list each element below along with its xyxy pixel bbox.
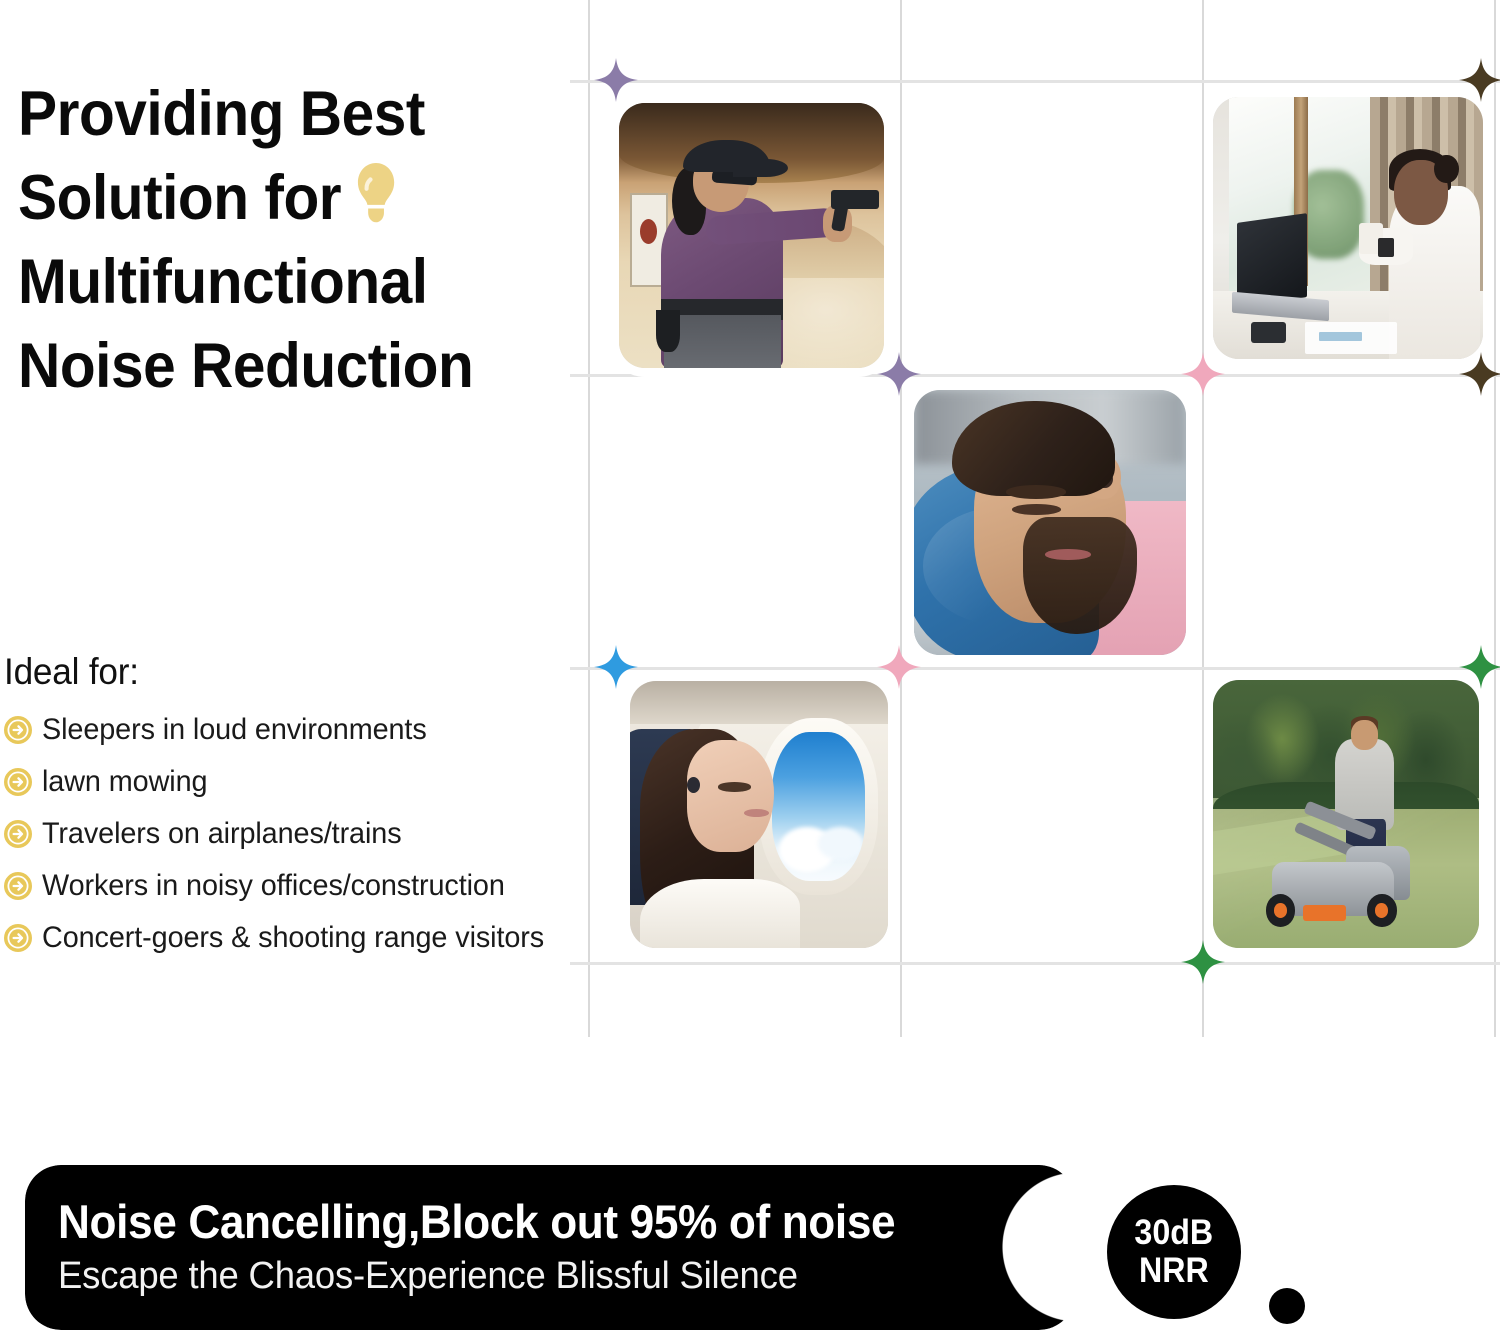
ideal-for-list: Sleepers in loud environments lawn mowin… [4,704,614,964]
ideal-for-item: Travelers on airplanes/trains [4,808,614,860]
ideal-for-item: Concert-goers & shooting range visitors [4,912,614,964]
sparkle-pink-mid-center [1181,352,1225,396]
ideal-for-item: lawn mowing [4,756,614,808]
sparkle-purple-mid-left [877,352,921,396]
ideal-for-item-label: Sleepers in loud environments [42,713,427,747]
photo-shooting-range [619,103,884,368]
nrr-badge: 30dB NRR [1107,1185,1241,1319]
nrr-badge-label: NRR [1139,1253,1209,1289]
grid-line-horizontal [570,962,1500,965]
photo-sleeping-man [914,390,1186,655]
grid-line-horizontal [570,667,1500,670]
ideal-for-item: Workers in noisy offices/construction [4,860,614,912]
grid-line-horizontal [570,80,1500,83]
lightbulb-icon [352,161,400,225]
photo-office-laptop [1213,97,1483,359]
ideal-for-item-label: lawn mowing [42,765,207,799]
headline-line-3: Multifunctional [18,247,428,317]
sparkle-purple-top-left [594,58,638,102]
circle-arrow-right-icon [4,820,32,848]
decorative-dot [1269,1288,1305,1324]
grid-line-horizontal [570,374,1500,377]
sparkle-green-bottom [1181,940,1225,984]
grid-line-vertical [1494,0,1496,1037]
ideal-for-title: Ideal for: [4,648,584,696]
headline-line-4: Noise Reduction [18,331,473,401]
photo-airplane-traveler [630,681,888,948]
bottom-claim-banner: Noise Cancelling,Block out 95% of noise … [25,1165,1075,1330]
banner-subtitle: Escape the Chaos-Experience Blissful Sil… [58,1254,798,1298]
headline-line-1: Providing Best [18,79,425,149]
circle-arrow-right-icon [4,872,32,900]
circle-arrow-right-icon [4,716,32,744]
sparkle-olive-top-right [1459,58,1500,102]
circle-arrow-right-icon [4,768,32,796]
sparkle-pink-lower-center [877,645,921,689]
nrr-badge-value: 30dB [1135,1215,1214,1251]
grid-line-vertical [1202,0,1204,1037]
page-title: Providing Best Solution for Multifunctio… [18,72,539,408]
grid-line-vertical [900,0,902,1037]
ideal-for-item: Sleepers in loud environments [4,704,614,756]
photo-lawn-mowing [1213,680,1479,948]
hero-text-column: Providing Best Solution for Multifunctio… [0,0,600,1050]
ideal-for-item-label: Travelers on airplanes/trains [42,817,402,851]
circle-arrow-right-icon [4,924,32,952]
headline-line-2: Solution for [18,163,341,233]
sparkle-olive-mid-right [1459,352,1500,396]
ideal-for-item-label: Concert-goers & shooting range visitors [42,921,544,955]
ideal-for-section: Ideal for: Sleepers in loud environments… [4,648,614,964]
sparkle-green-lower-right [1459,645,1500,689]
ideal-for-item-label: Workers in noisy offices/construction [42,869,505,903]
banner-headline: Noise Cancelling,Block out 95% of noise [58,1197,895,1247]
